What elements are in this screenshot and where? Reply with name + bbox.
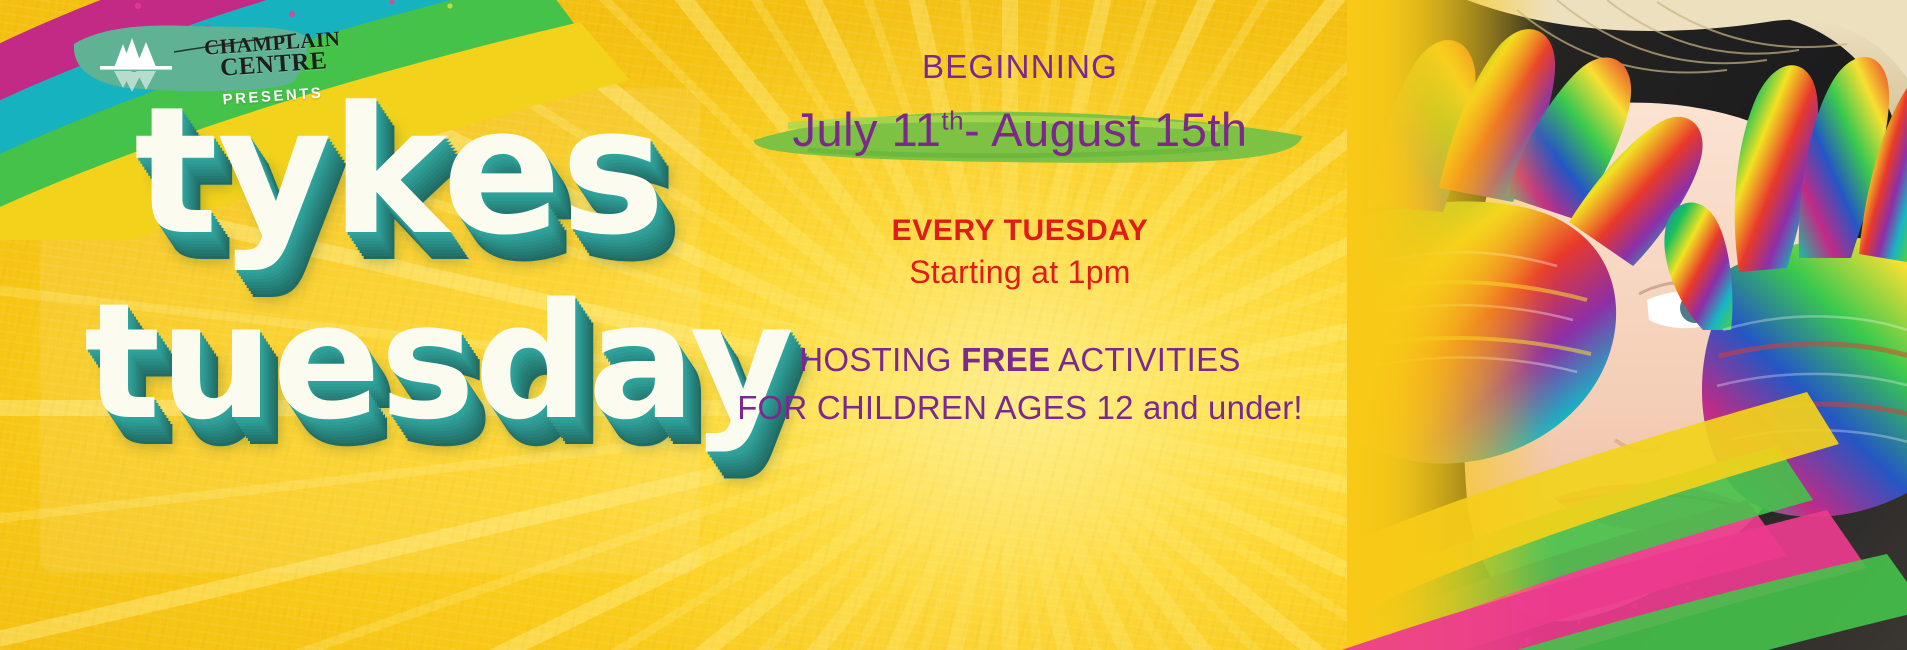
tykes-tuesday-banner: CHAMPLAIN CENTRE PRESENTS tykes tuesday … <box>0 0 1907 650</box>
event-info-block: BEGINNING July 11th- August 15th EVERY T… <box>690 48 1350 427</box>
title-line-tykes: tykes <box>134 96 704 247</box>
hosting-free-emphasis: FREE <box>961 341 1050 378</box>
date-ordinal-suffix: th <box>941 105 964 135</box>
date-prefix: July 11 <box>792 103 941 156</box>
hosting-activities-line: HOSTING FREE ACTIVITIES <box>690 341 1350 379</box>
date-range-row: July 11th- August 15th <box>690 98 1350 166</box>
main-title: tykes tuesday <box>84 96 704 431</box>
title-line-tuesday: tuesday <box>84 293 704 431</box>
date-range-text: July 11th- August 15th <box>690 98 1350 162</box>
every-tuesday-label: EVERY TUESDAY <box>690 214 1350 248</box>
hosting-post: ACTIVITIES <box>1050 341 1240 378</box>
beginning-label: BEGINNING <box>690 48 1350 86</box>
hosting-pre: HOSTING <box>799 341 961 378</box>
starting-time-label: Starting at 1pm <box>690 254 1350 291</box>
paint-strokes-bottom-right-icon <box>1127 410 1907 650</box>
date-rest: - August 15th <box>964 103 1247 156</box>
